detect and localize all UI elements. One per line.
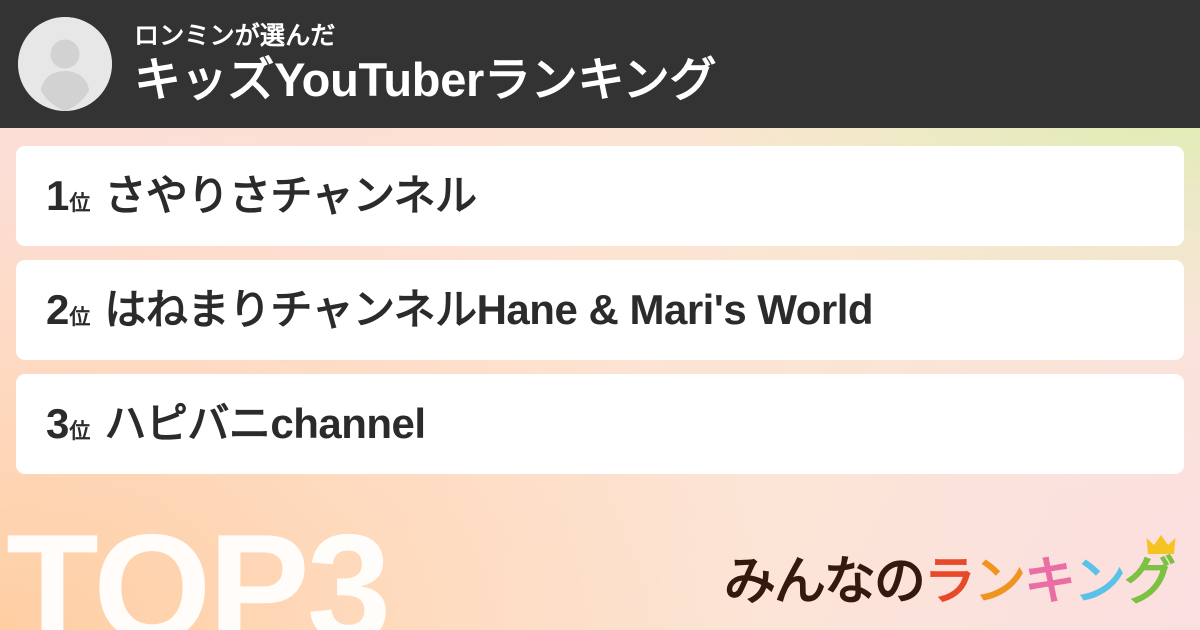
header-text-block: ロンミンが選んだ キッズYouTuberランキング [134,22,716,106]
ranking-row-2[interactable]: 2 位 はねまりチャンネルHane & Mari's World [16,260,1184,360]
brand-kana-2: ン [974,556,1024,608]
rank-position-2: 2 位 [46,289,90,331]
ranking-item-name-2: はねまりチャンネルHane & Mari's World [104,287,873,333]
header-subtitle: ロンミンが選んだ [134,22,716,51]
rank-number-3: 3 [46,403,68,445]
top3-watermark: TOP3 [6,512,388,630]
brand-logo-kana: ラ ン キ ン グ [924,556,1174,608]
brand-kana-3: キ [1024,556,1074,608]
ranking-share-card: TOP3 ロンミンが選んだ キッズYouTuberランキング 1 位 さやりさチ… [0,0,1200,630]
card-header: ロンミンが選んだ キッズYouTuberランキング [0,0,1200,128]
rank-number-1: 1 [46,175,68,217]
brand-kana-1: ラ [924,556,974,608]
ranking-item-name-1: さやりさチャンネル [104,173,476,219]
brand-kana-4: ン [1074,556,1124,608]
rank-unit-3: 位 [69,421,90,442]
brand-kana-5: グ [1124,556,1174,608]
user-avatar [18,17,112,111]
ranking-item-name-3: ハピバニchannel [104,401,425,447]
ranking-list: 1 位 さやりさチャンネル 2 位 はねまりチャンネルHane & Mari's… [16,146,1184,474]
rank-position-1: 1 位 [46,175,90,217]
rank-number-2: 2 [46,289,68,331]
brand-logo-prefix: みんなの [724,556,924,608]
rank-unit-1: 位 [69,193,90,214]
ranking-row-3[interactable]: 3 位 ハピバニchannel [16,374,1184,474]
brand-logo[interactable]: みんなの ラ ン キ ン グ [724,556,1174,608]
default-user-avatar-icon [18,17,112,111]
page-title: キッズYouTuberランキング [134,54,716,107]
ranking-row-1[interactable]: 1 位 さやりさチャンネル [16,146,1184,246]
rank-position-3: 3 位 [46,403,90,445]
rank-unit-2: 位 [69,307,90,328]
crown-icon [1146,534,1176,556]
